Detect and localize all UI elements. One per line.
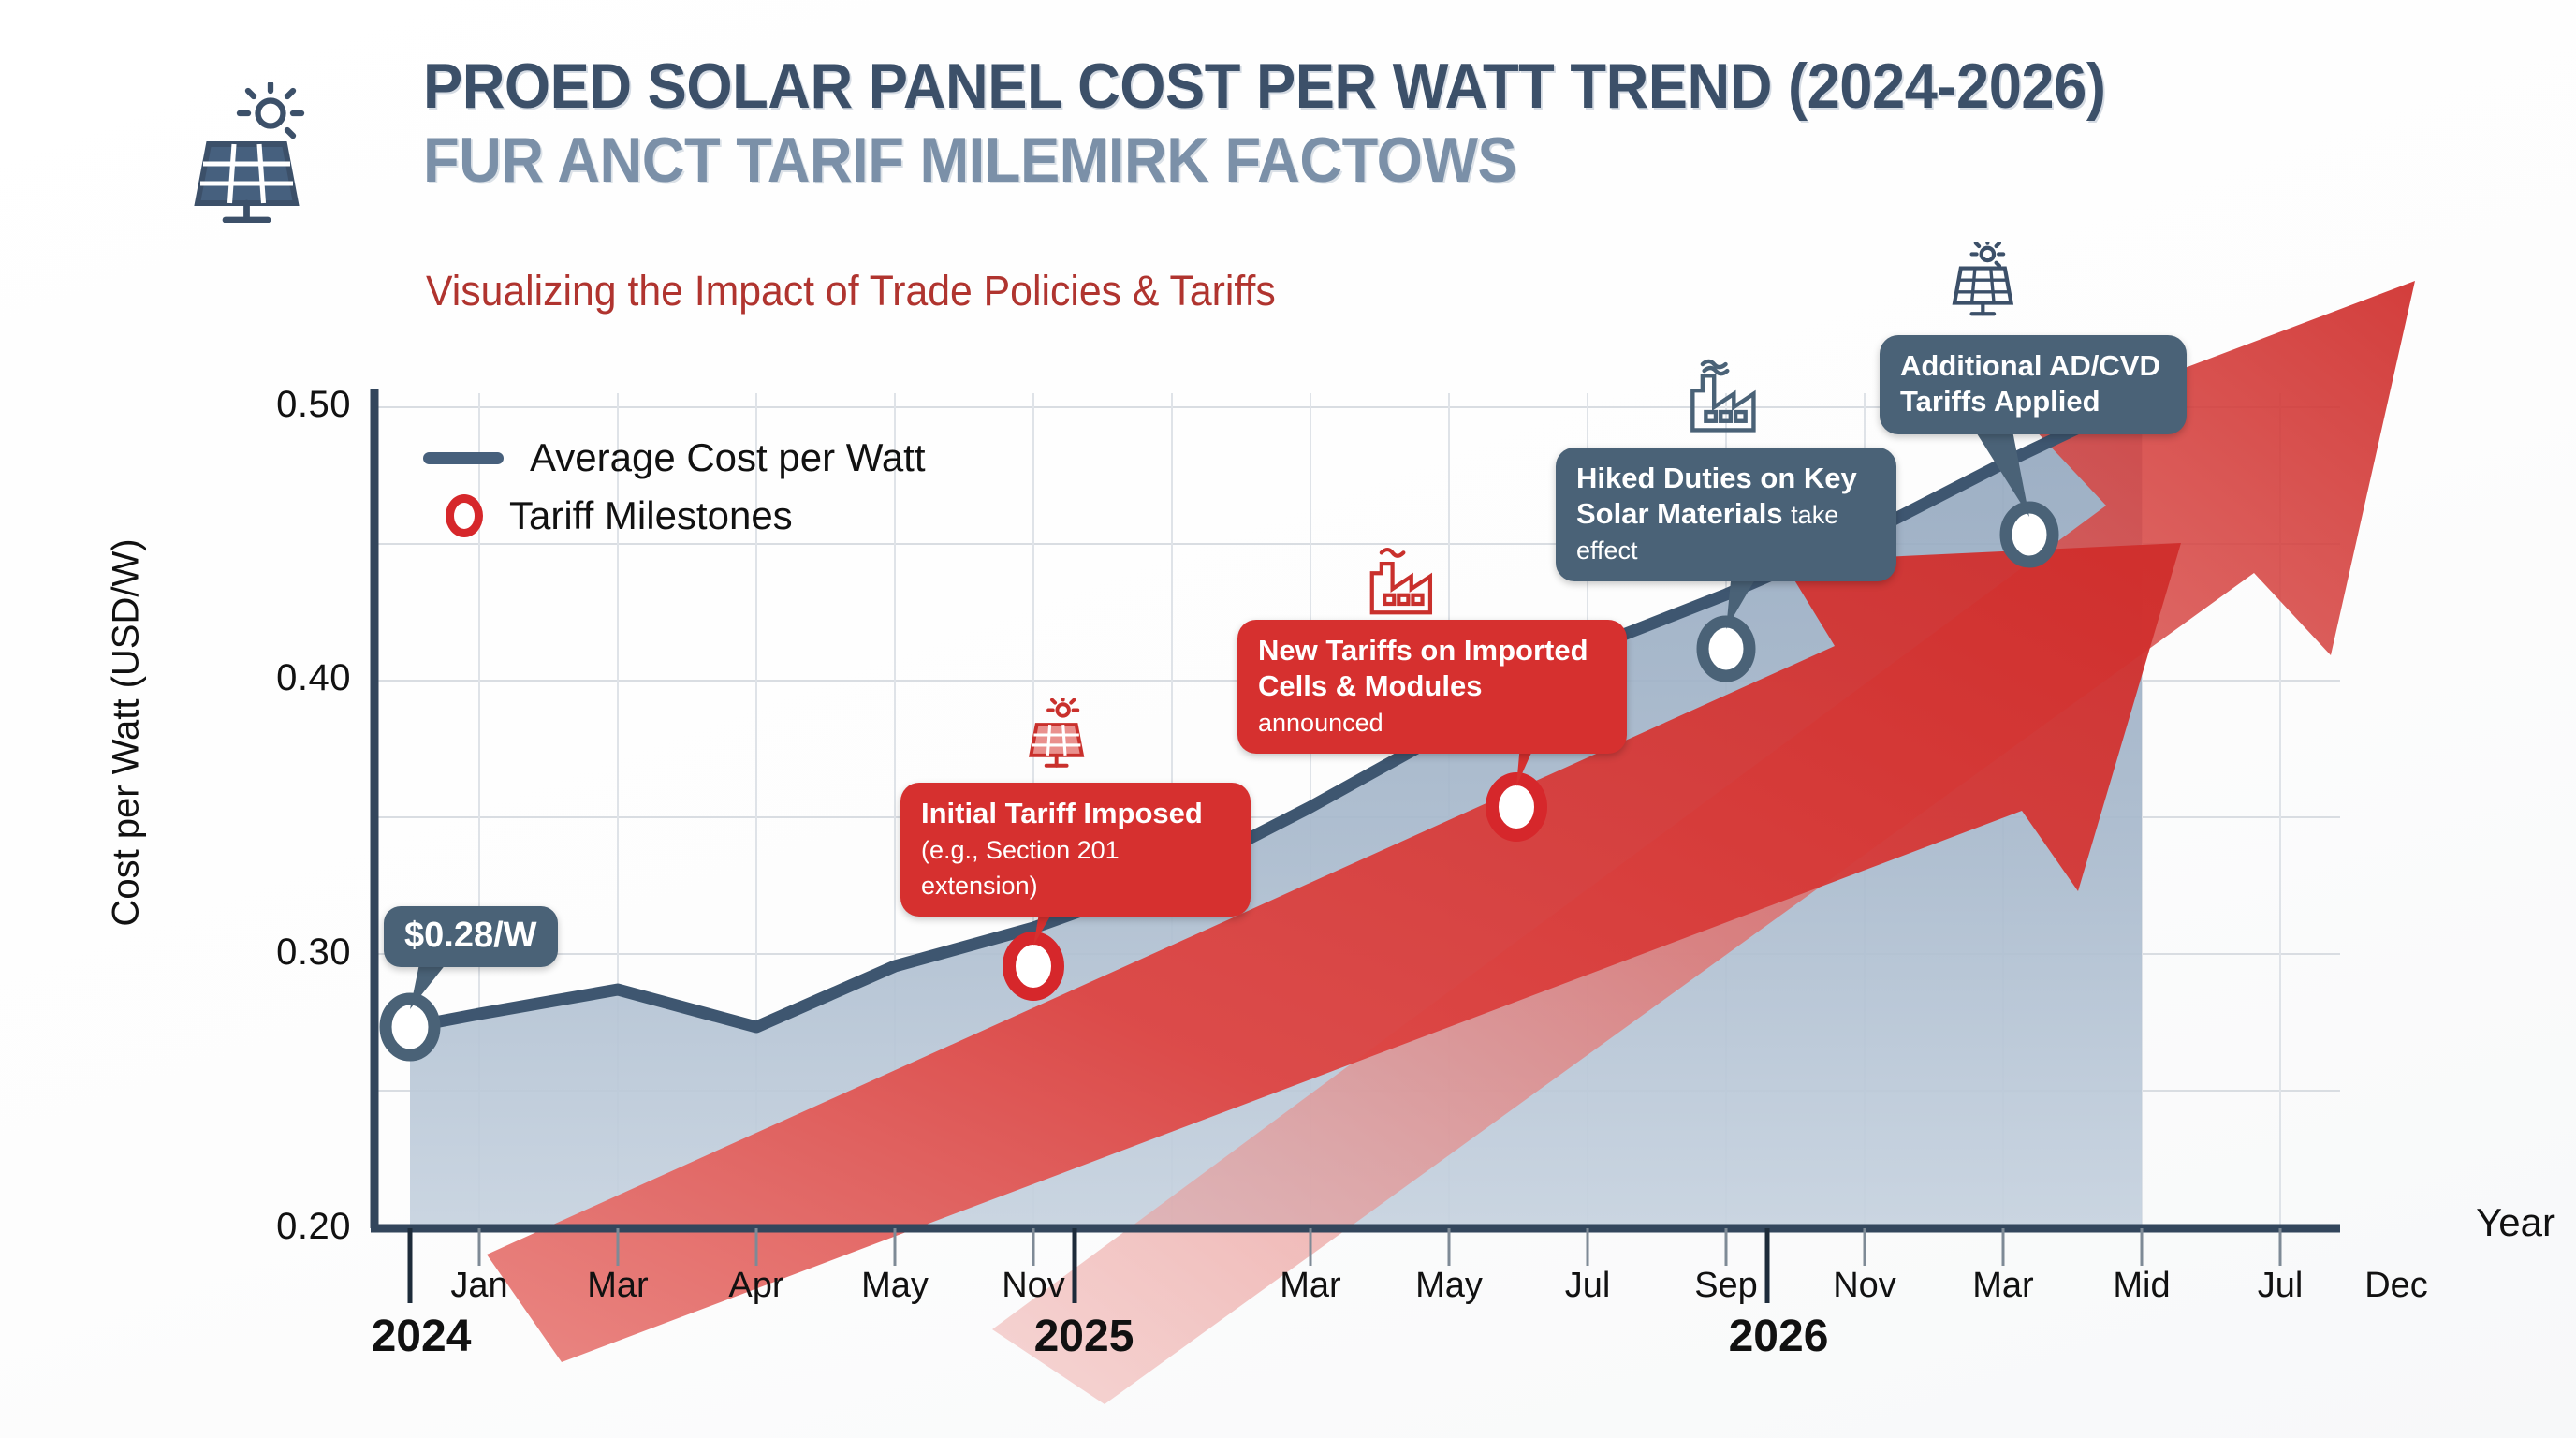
callout-initial-tariff-strong: Initial Tariff Imposed (921, 797, 1203, 829)
legend-ring-swatch (446, 494, 483, 537)
marker-milestone-hiked-duties[interactable] (1703, 622, 1749, 676)
factory-smoke-icon (1681, 358, 1764, 440)
x-tick-nov-2025: Nov (1790, 1266, 1939, 1306)
x-tick-may-2024: May (820, 1266, 970, 1306)
x-year-2024: 2024 (318, 1311, 524, 1362)
y-tick-0-40: 0.40 (192, 657, 351, 699)
x-tick-jan-2024: Jan (404, 1266, 554, 1306)
callout-new-tariffs[interactable]: New Tariffs on Imported Cells & Modules … (1237, 620, 1627, 754)
legend-label-average-cost: Average Cost per Watt (530, 435, 926, 480)
infographic-canvas: PROED SOLAR PANEL COST PER WATT TREND (2… (0, 0, 2576, 1438)
x-tick-may-2025: May (1374, 1266, 1524, 1306)
x-tick-apr-2024: Apr (681, 1266, 831, 1306)
x-axis-title: Year (2476, 1200, 2555, 1245)
marker-start[interactable] (386, 999, 434, 1055)
legend-item-tariff-milestones[interactable]: Tariff Milestones (423, 487, 926, 545)
x-year-2026: 2026 (1676, 1311, 1881, 1362)
y-tick-0-30: 0.30 (192, 932, 351, 974)
x-tick-mar-2025: Mar (1236, 1266, 1385, 1306)
x-year-2025: 2025 (981, 1311, 1187, 1362)
solar-panel-icon (1022, 698, 1095, 771)
legend-label-tariff-milestones: Tariff Milestones (509, 493, 793, 538)
x-tick-sep-2025: Sep (1651, 1266, 1801, 1306)
legend-item-average-cost[interactable]: Average Cost per Watt (423, 429, 926, 487)
legend: Average Cost per Watt Tariff Milestones (423, 429, 926, 545)
marker-milestone-initial-tariff[interactable] (1009, 938, 1058, 994)
value-badge-start: $0.28/W (384, 906, 558, 967)
callout-additional-adcvd[interactable]: Additional AD/CVD Tariffs Applied (1880, 335, 2187, 434)
x-tick-dec-2026: Dec (2321, 1266, 2471, 1306)
x-tick-mar-2024: Mar (543, 1266, 693, 1306)
y-tick-0-50: 0.50 (192, 384, 351, 426)
factory-icon (1361, 545, 1440, 624)
legend-line-swatch (423, 452, 504, 464)
callout-new-tariffs-sub: announced (1258, 709, 1383, 737)
y-axis-title: Cost per Watt (USD/W) (106, 518, 148, 948)
x-tick-jul-2025: Jul (1513, 1266, 1662, 1306)
x-tick-mid-2026: Mid (2067, 1266, 2217, 1306)
callout-additional-adcvd-strong: Additional AD/CVD Tariffs Applied (1900, 349, 2160, 418)
y-tick-0-20: 0.20 (192, 1206, 351, 1248)
solar-panel-icon (1945, 242, 2024, 320)
callout-initial-tariff-sub: (e.g., Section 201 extension) (921, 836, 1120, 900)
x-tick-mar-2026: Mar (1928, 1266, 2078, 1306)
callout-hiked-duties[interactable]: Hiked Duties on Key Solar Materials take… (1556, 448, 1896, 581)
marker-milestone-additional-adcvd[interactable] (2006, 507, 2053, 562)
marker-milestone-new-tariffs[interactable] (1492, 779, 1541, 835)
callout-initial-tariff[interactable]: Initial Tariff Imposed (e.g., Section 20… (900, 783, 1251, 917)
x-tick-nov-2024: Nov (959, 1266, 1108, 1306)
callout-new-tariffs-strong: New Tariffs on Imported Cells & Modules (1258, 634, 1588, 702)
